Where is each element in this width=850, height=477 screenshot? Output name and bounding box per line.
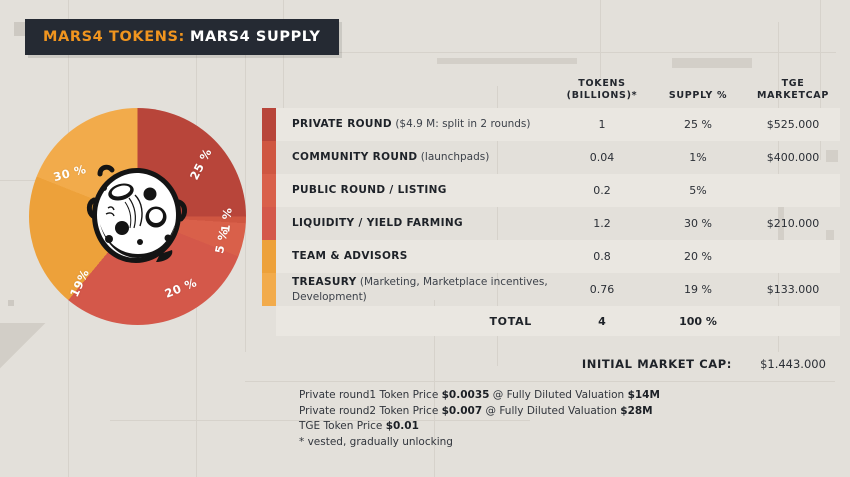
initial-market-cap-label: INITIAL MARKET CAP: — [262, 357, 746, 371]
row-category-name: TEAM & ADVISORS — [276, 249, 554, 263]
row-color-swatch — [262, 273, 276, 306]
table-row: TEAM & ADVISORS0.820 % — [262, 240, 840, 273]
row-tge-marketcap: $525.000 — [746, 118, 840, 131]
total-tokens: 4 — [554, 315, 650, 328]
row-tokens: 1 — [554, 118, 650, 131]
row-tge-marketcap: $133.000 — [746, 283, 840, 296]
table-header-row: TOKENS (BILLIONS)* SUPPLY % TGE MARKETCA… — [262, 62, 840, 108]
row-supply-pct: 25 % — [650, 118, 746, 131]
row-tokens: 0.04 — [554, 151, 650, 164]
table-row: COMMUNITY ROUND (launchpads)0.041%$400.0… — [262, 141, 840, 174]
header-tge-marketcap: TGE MARKETCAP — [746, 78, 840, 102]
row-category-name: PRIVATE ROUND ($4.9 M: split in 2 rounds… — [276, 117, 554, 131]
diagonal-stripes — [0, 323, 205, 477]
row-category-name: PUBLIC ROUND / LISTING — [276, 183, 554, 197]
table-row: PRIVATE ROUND ($4.9 M: split in 2 rounds… — [262, 108, 840, 141]
row-tge-marketcap: $400.000 — [746, 151, 840, 164]
row-supply-pct: 30 % — [650, 217, 746, 230]
title-subject: MARS4 SUPPLY — [190, 29, 321, 45]
total-supply: 100 % — [650, 315, 746, 328]
row-supply-pct: 1% — [650, 151, 746, 164]
supply-pie-chart: 25 %1 %5 %30 %20 %19% — [29, 108, 246, 325]
row-supply-pct: 19 % — [650, 283, 746, 296]
total-label: TOTAL — [276, 315, 554, 328]
row-tokens: 0.8 — [554, 250, 650, 263]
table-row: LIQUIDITY / YIELD FARMING1.230 %$210.000 — [262, 207, 840, 240]
row-tokens: 0.2 — [554, 184, 650, 197]
row-tge-marketcap: $210.000 — [746, 217, 840, 230]
row-tokens: 1.2 — [554, 217, 650, 230]
mars-moon-icon — [82, 162, 192, 272]
row-category-name: TREASURY (Marketing, Marketplace incenti… — [276, 275, 554, 303]
footnote-line: Private round1 Token Price $0.0035 @ Ful… — [299, 388, 660, 404]
row-tokens: 0.76 — [554, 283, 650, 296]
row-category-name: COMMUNITY ROUND (launchpads) — [276, 150, 554, 164]
supply-table: TOKENS (BILLIONS)* SUPPLY % TGE MARKETCA… — [262, 62, 840, 336]
page-title-bar: MARS4 TOKENS: MARS4 SUPPLY — [25, 19, 339, 55]
footnote-line: Private round2 Token Price $0.007 @ Full… — [299, 404, 660, 420]
infographic-canvas: MARS4 TOKENS: MARS4 SUPPLY — [0, 0, 850, 477]
footnote-line: TGE Token Price $0.01 — [299, 419, 660, 435]
header-tokens: TOKENS (BILLIONS)* — [554, 78, 650, 102]
row-color-swatch — [262, 240, 276, 273]
table-row: TREASURY (Marketing, Marketplace incenti… — [262, 273, 840, 306]
footnote-line: * vested, gradually unlocking — [299, 435, 660, 451]
row-color-swatch — [262, 174, 276, 207]
row-color-swatch — [262, 108, 276, 141]
title-brand: MARS4 TOKENS: — [43, 29, 185, 45]
row-color-swatch — [262, 141, 276, 174]
row-color-swatch — [262, 207, 276, 240]
initial-market-cap-row: INITIAL MARKET CAP: $1.443.000 — [262, 357, 840, 371]
header-supply-pct: SUPPLY % — [650, 90, 746, 102]
table-row: PUBLIC ROUND / LISTING0.25% — [262, 174, 840, 207]
row-supply-pct: 20 % — [650, 250, 746, 263]
table-body: PRIVATE ROUND ($4.9 M: split in 2 rounds… — [262, 108, 840, 306]
initial-market-cap-value: $1.443.000 — [746, 357, 840, 371]
table-total-row: TOTAL 4 100 % — [262, 306, 840, 336]
footnotes: Private round1 Token Price $0.0035 @ Ful… — [299, 388, 660, 450]
row-supply-pct: 5% — [650, 184, 746, 197]
row-category-name: LIQUIDITY / YIELD FARMING — [276, 216, 554, 230]
